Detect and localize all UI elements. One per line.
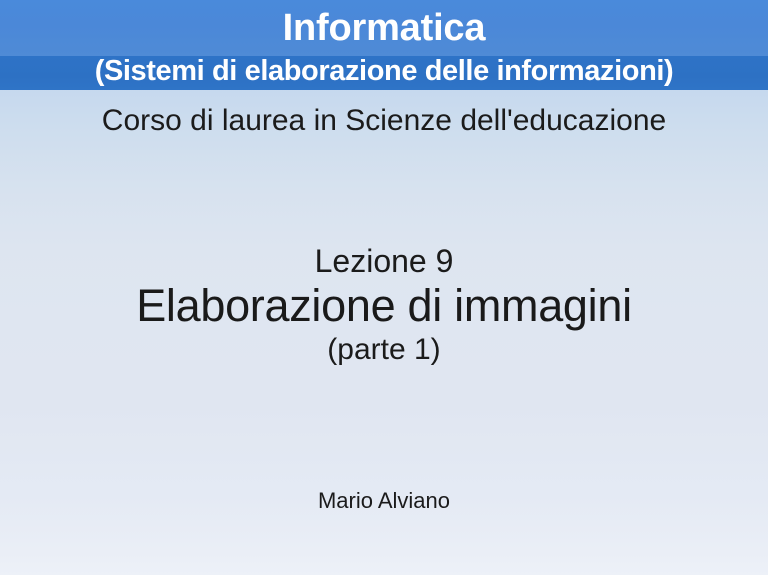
lesson-title: Elaborazione di immagini <box>0 280 768 332</box>
presentation-slide: Informatica (Sistemi di elaborazione del… <box>0 0 768 575</box>
lesson-part: (parte 1) <box>0 332 768 368</box>
slide-title: Informatica <box>0 6 768 50</box>
lesson-number: Lezione 9 <box>0 242 768 280</box>
course-name: Corso di laurea in Scienze dell'educazio… <box>0 103 768 139</box>
slide-subtitle: (Sistemi di elaborazione delle informazi… <box>0 53 768 89</box>
author-name: Mario Alviano <box>0 487 768 515</box>
slide-header-banner: Informatica (Sistemi di elaborazione del… <box>0 0 768 90</box>
lesson-block: Lezione 9 Elaborazione di immagini (part… <box>0 242 768 368</box>
